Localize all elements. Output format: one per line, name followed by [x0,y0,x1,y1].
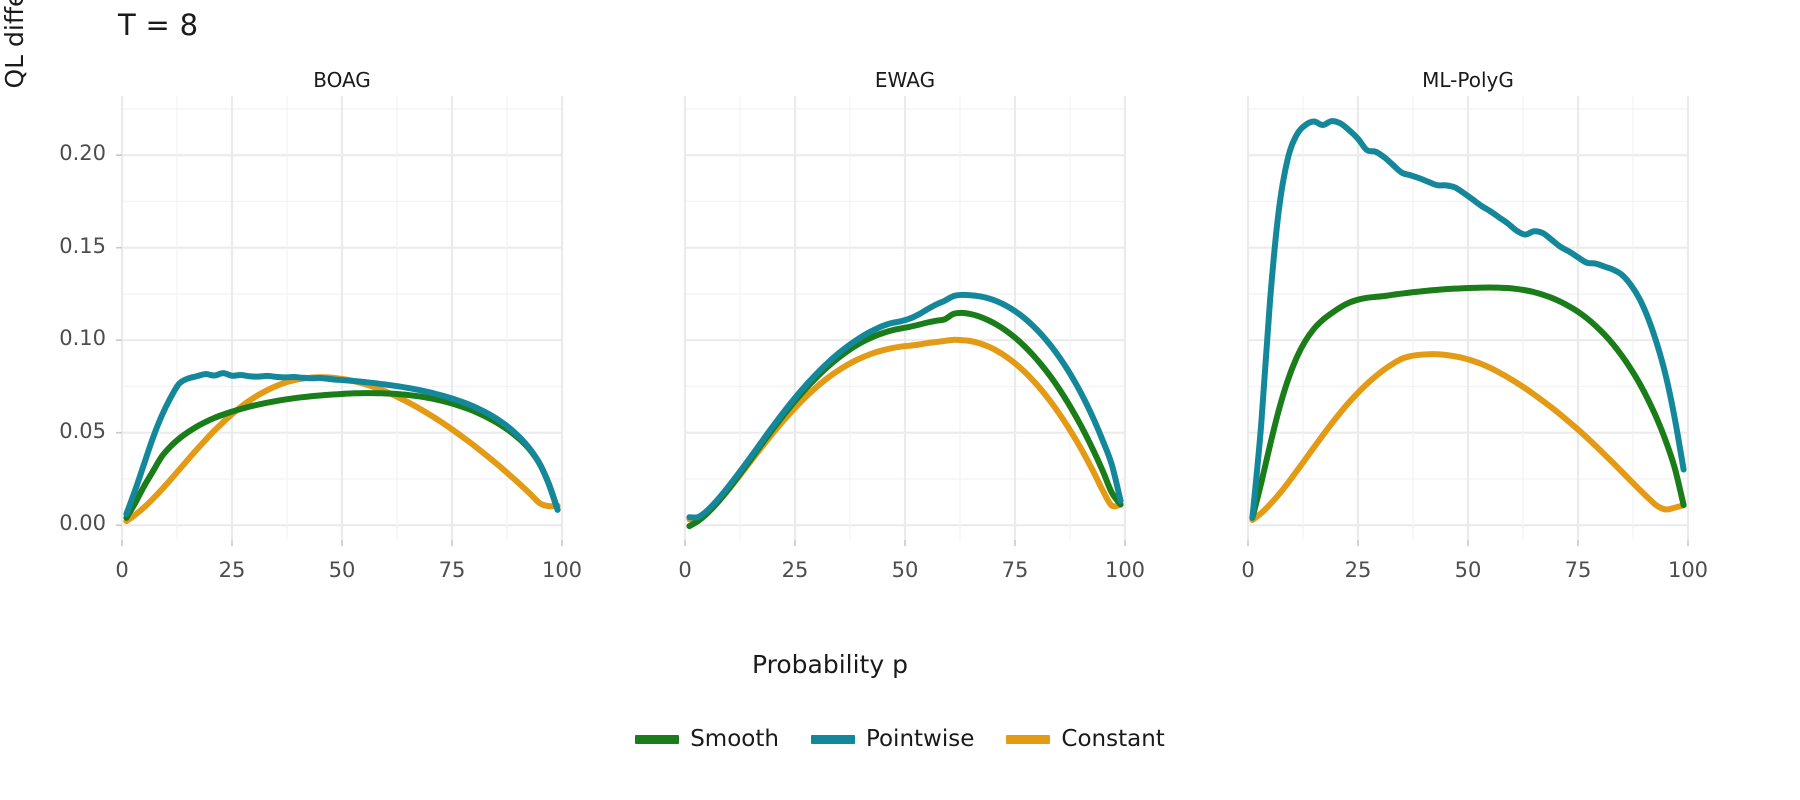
x-tick-label: 100 [1648,558,1728,582]
panel-title-ewag: EWAG [685,68,1125,92]
panel-title-ml-polyg: ML-PolyG [1248,68,1688,92]
chart-legend: SmoothPointwiseConstant [0,726,1800,752]
legend-item-constant[interactable]: Constant [1006,726,1164,752]
panel-BOAG [122,96,562,546]
y-tick-label: 0.10 [0,326,106,350]
x-tick-label: 0 [1208,558,1288,582]
legend-key-smooth-icon [635,735,679,744]
legend-key-pointwise-icon [811,735,855,744]
panel-EWAG [685,96,1125,546]
chart-plot-area [0,0,1800,800]
x-tick-label: 50 [865,558,945,582]
x-tick-label: 75 [1538,558,1618,582]
x-tick-label: 50 [1428,558,1508,582]
legend-label: Smooth [690,726,779,752]
legend-item-smooth[interactable]: Smooth [635,726,779,752]
x-tick-label: 25 [192,558,272,582]
x-tick-label: 100 [522,558,602,582]
y-tick-label: 0.05 [0,419,106,443]
x-tick-label: 25 [755,558,835,582]
x-tick-label: 50 [302,558,382,582]
panel-title-boag: BOAG [122,68,562,92]
x-tick-label: 0 [645,558,725,582]
legend-item-pointwise[interactable]: Pointwise [811,726,974,752]
legend-label: Pointwise [866,726,974,752]
y-tick-label: 0.20 [0,141,106,165]
y-tick-label: 0.00 [0,511,106,535]
x-tick-label: 75 [975,558,1055,582]
x-tick-label: 0 [82,558,162,582]
x-tick-label: 75 [412,558,492,582]
panel-ML-PolyG [1248,96,1688,546]
legend-label: Constant [1061,726,1164,752]
legend-key-constant-icon [1006,735,1050,744]
x-tick-label: 25 [1318,558,1398,582]
x-tick-label: 100 [1085,558,1165,582]
chart-container: T = 8 QL difference Probability p BOAGEW… [0,0,1800,800]
y-tick-label: 0.15 [0,234,106,258]
